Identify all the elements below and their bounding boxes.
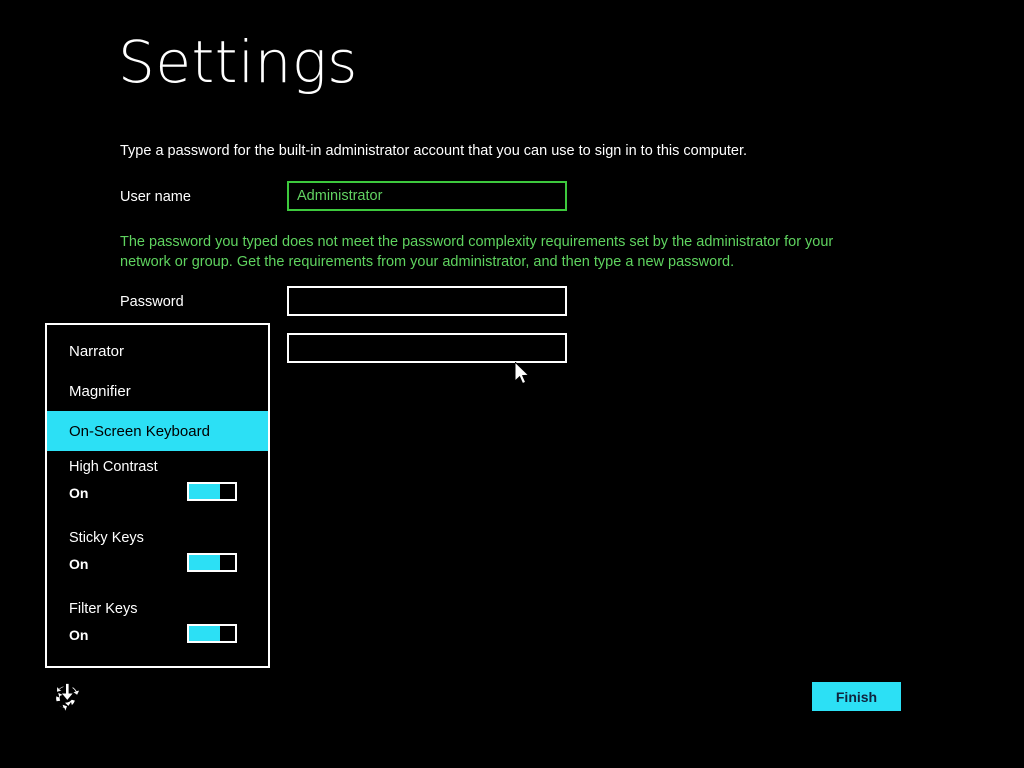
toggle-fill — [189, 626, 220, 641]
password-complexity-warning: The password you typed does not meet the… — [120, 232, 880, 272]
ease-of-access-panel: Narrator Magnifier On-Screen Keyboard Hi… — [45, 323, 270, 668]
mouse-cursor — [515, 362, 533, 388]
page-title: Settings — [118, 33, 358, 91]
ease-item-narrator[interactable]: Narrator — [47, 331, 268, 371]
settings-screen: Settings Type a password for the built-i… — [0, 0, 1024, 768]
toggle-label-filter-keys: Filter Keys — [69, 601, 138, 617]
ease-of-access-icon[interactable] — [50, 681, 82, 713]
ease-item-magnifier[interactable]: Magnifier — [47, 371, 268, 411]
toggle-state-high-contrast: On — [69, 485, 88, 501]
toggle-state-sticky-keys: On — [69, 556, 88, 572]
toggle-state-filter-keys: On — [69, 627, 88, 643]
username-input[interactable] — [287, 181, 567, 211]
toggle-fill — [189, 555, 220, 570]
username-label: User name — [120, 189, 191, 205]
toggle-switch-sticky-keys[interactable] — [187, 553, 237, 572]
password-input[interactable] — [287, 286, 567, 316]
ease-item-label: Magnifier — [69, 383, 131, 400]
confirm-password-input[interactable] — [287, 333, 567, 363]
ease-item-label: On-Screen Keyboard — [69, 423, 210, 440]
password-label: Password — [120, 294, 184, 310]
toggle-switch-filter-keys[interactable] — [187, 624, 237, 643]
toggle-label-sticky-keys: Sticky Keys — [69, 530, 144, 546]
finish-button[interactable]: Finish — [812, 682, 901, 711]
toggle-fill — [189, 484, 220, 499]
intro-text: Type a password for the built-in adminis… — [120, 143, 747, 159]
ease-item-on-screen-keyboard[interactable]: On-Screen Keyboard — [47, 411, 268, 451]
toggle-switch-high-contrast[interactable] — [187, 482, 237, 501]
ease-item-label: Narrator — [69, 343, 124, 360]
toggle-label-high-contrast: High Contrast — [69, 459, 158, 475]
